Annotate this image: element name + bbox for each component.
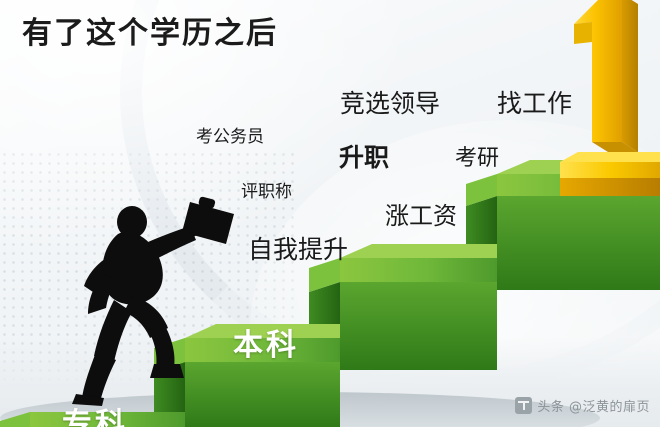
word-jingxuan-lingdao: 竞选领导	[340, 84, 440, 120]
toutiao-logo-icon	[515, 397, 532, 414]
watermark: 头条 @泛黄的扉页	[515, 396, 650, 415]
word-zhang-gongzi: 涨工资	[385, 196, 457, 231]
watermark-text: 头条 @泛黄的扉页	[537, 396, 650, 415]
image-canvas: 竞选领导 找工作 考公务员 升职 考研 评职称 涨工资 自我提升 本科 专科 有…	[0, 0, 660, 427]
word-zhao-gongzuo: 找工作	[497, 84, 572, 120]
climbing-person-silhouette	[70, 196, 240, 406]
word-ziwo-tisheng: 自我提升	[248, 230, 348, 266]
word-kao-gongwuyuan: 考公务员	[196, 122, 264, 147]
page-title: 有了这个学历之后	[22, 8, 278, 52]
step-label-benke: 本科	[233, 320, 299, 364]
word-ping-zhicheng: 评职称	[241, 177, 292, 202]
word-kaoyan: 考研	[455, 140, 499, 172]
word-shengzhi: 升职	[339, 138, 389, 174]
